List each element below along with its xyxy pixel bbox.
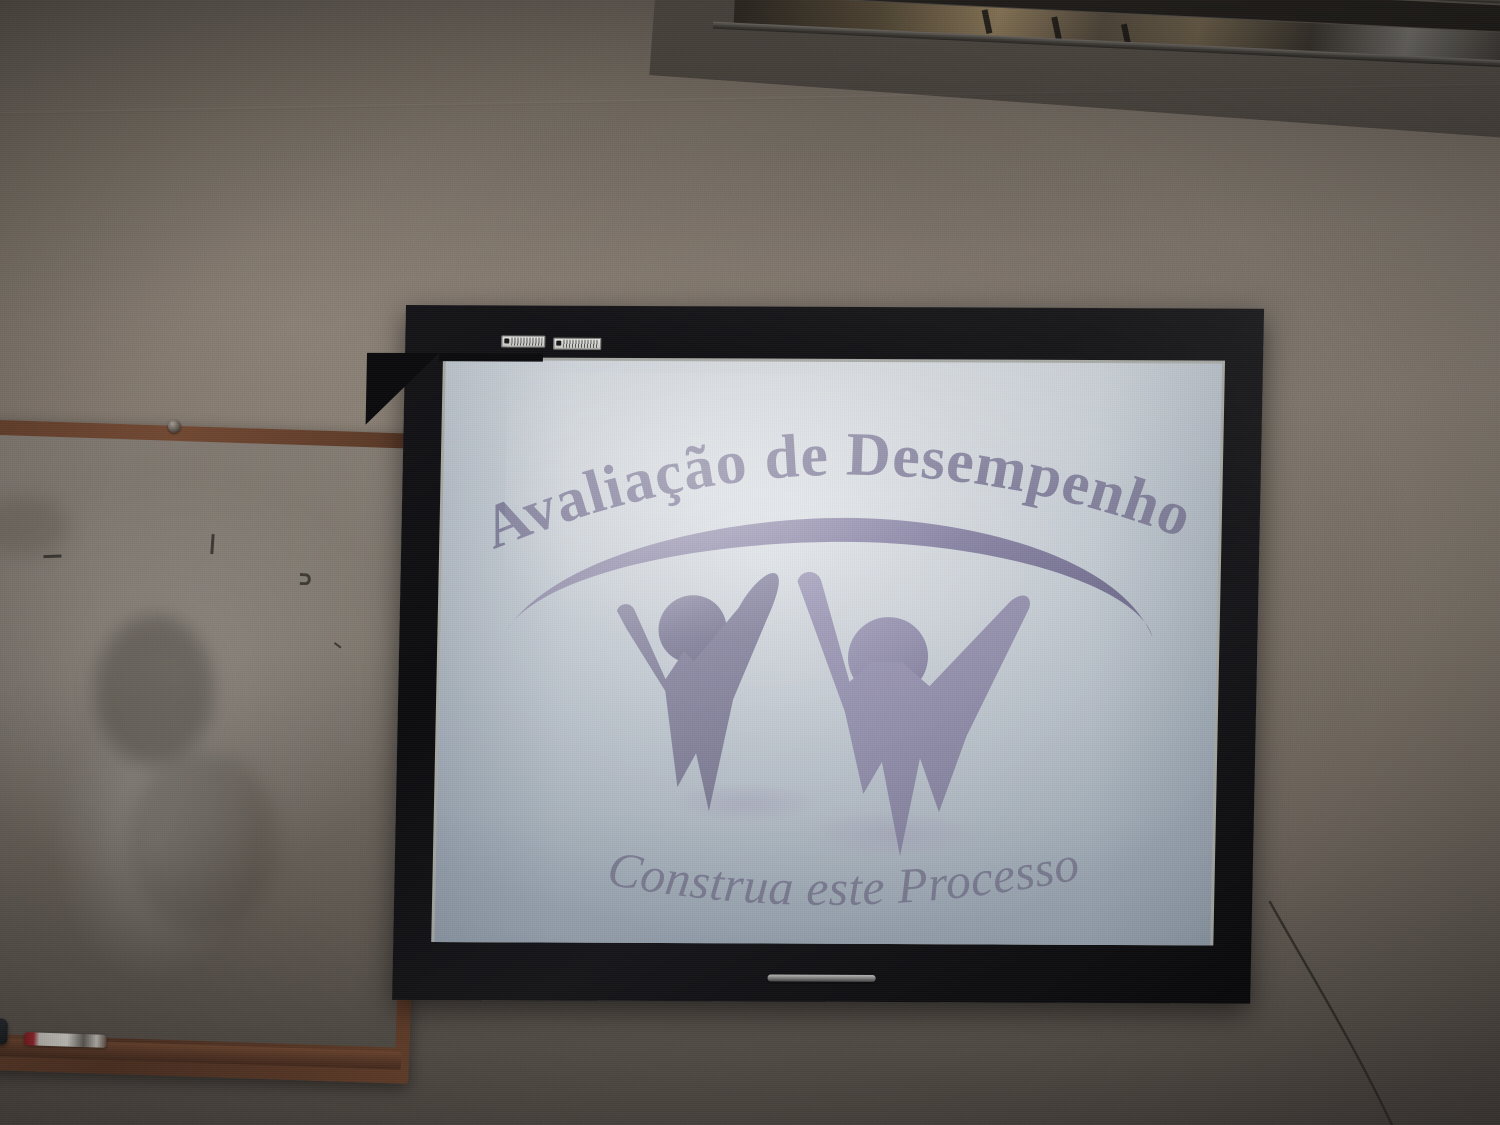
slide: Avaliação de Desempenho <box>434 360 1222 945</box>
logo-shadow <box>673 783 818 824</box>
slide-subtitle: Construa este Processo <box>434 842 1212 945</box>
projection-screen[interactable]: Avaliação de Desempenho <box>392 305 1264 1004</box>
whiteboard-surface[interactable] <box>0 433 415 1047</box>
marker-stroke <box>210 534 214 554</box>
logo-figure-left <box>613 572 779 811</box>
pull-down-handle[interactable] <box>767 975 875 982</box>
screen-canvas: Avaliação de Desempenho <box>434 360 1222 945</box>
marker[interactable] <box>24 1032 106 1048</box>
screen-cassette-bevel <box>366 353 439 425</box>
slide-subtitle-textpath: Construa este Processo <box>603 833 1085 917</box>
screen-cassette-edge <box>439 353 543 361</box>
asset-sticker-left <box>501 335 545 347</box>
screen-mat: Avaliação de Desempenho <box>431 357 1225 945</box>
marker-stroke <box>300 573 311 585</box>
svg-text:Construa este Processo: Construa este Processo <box>603 833 1085 917</box>
scene-root: Avaliação de Desempenho <box>0 0 1500 1125</box>
asset-sticker-right <box>553 338 601 350</box>
marker-stroke <box>334 642 342 648</box>
marker-stroke <box>43 554 61 558</box>
whiteboard[interactable] <box>0 418 430 1084</box>
